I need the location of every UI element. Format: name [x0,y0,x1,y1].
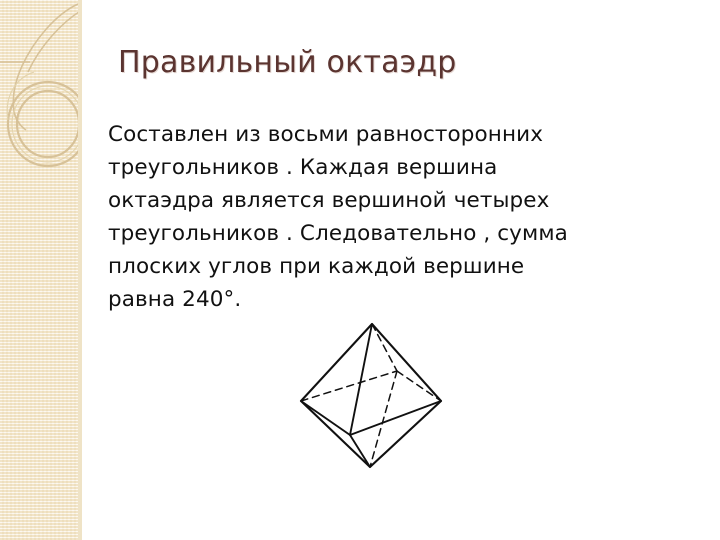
page-title: Правильный октаэдр [118,44,678,82]
body-line: плоских углов при каждой вершине [108,250,698,283]
body-line: треугольников . Следовательно , сумма [108,217,698,250]
regular-octahedron-icon [272,312,472,472]
decorative-left-band [0,0,82,540]
body-line: октаэдра является вершиной четырех [108,184,698,217]
corner-swirl-ornament-icon [0,0,82,540]
slide-canvas: Правильный октаэдр Составлен из восьми р… [0,0,720,540]
body-line: Составлен из восьми равносторонних [108,118,698,151]
band-edge-divider [78,0,82,540]
body-text-block: Составлен из восьми равносторонних треуг… [108,118,698,316]
octahedron-figure [272,312,472,472]
body-line: треугольников . Каждая вершина [108,151,698,184]
